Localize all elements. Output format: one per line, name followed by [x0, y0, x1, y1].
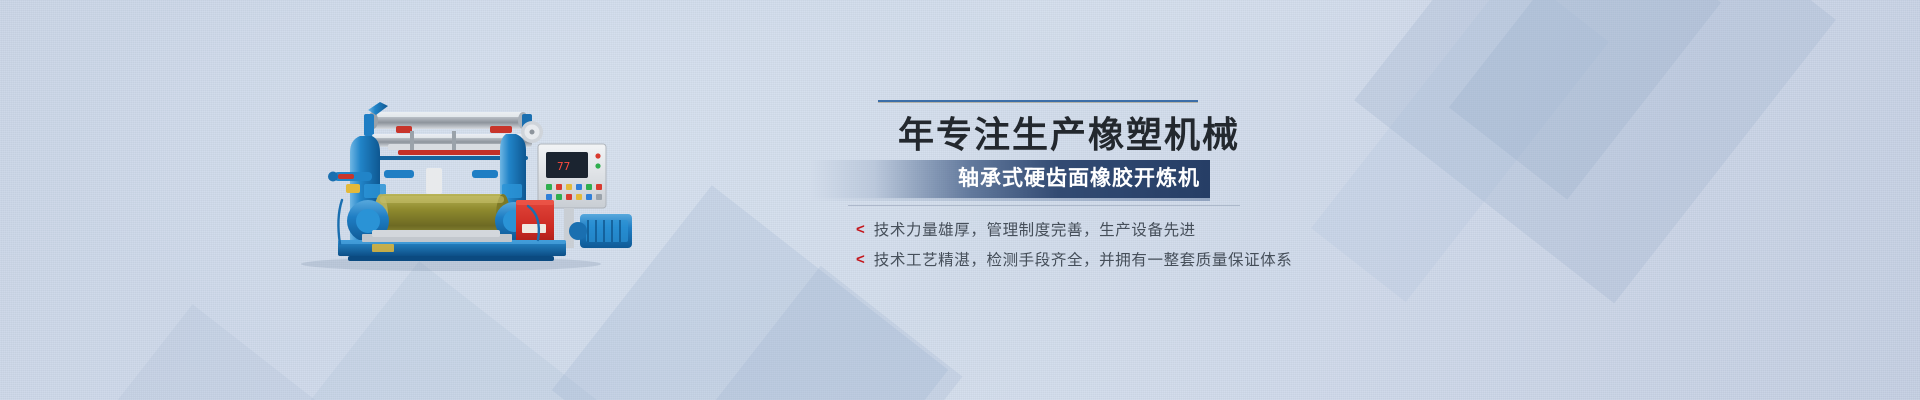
feature-bullet-2: < 技术工艺精湛，检测手段齐全，并拥有一整套质量保证体系 — [856, 246, 1292, 272]
feature-bullet-2-text: 技术工艺精湛，检测手段齐全，并拥有一整套质量保证体系 — [874, 248, 1293, 270]
svg-text:77: 77 — [557, 160, 570, 173]
motor — [569, 214, 632, 248]
chevron-left-icon: < — [856, 252, 865, 267]
decorative-panel-bottom-center-2 — [698, 266, 963, 400]
mid-divider-line — [848, 205, 1240, 206]
machine-photo: 77 — [276, 88, 636, 273]
banner-text-block: 年专注生产橡塑机械 轴承式硬齿面橡胶开炼机 < 技术力量雄厚，管理制度完善，生产… — [820, 86, 1580, 276]
feature-bullet-1: < 技术力量雄厚，管理制度完善，生产设备先进 — [856, 216, 1196, 242]
decorative-panel-bottom-left-1 — [296, 261, 624, 400]
flywheel — [521, 121, 543, 143]
page-title: 年专注生产橡塑机械 — [820, 112, 1240, 158]
product-subtitle: 轴承式硬齿面橡胶开炼机 — [810, 160, 1210, 198]
top-divider-shadow — [878, 102, 1198, 103]
promo-banner: 77 — [0, 0, 1920, 400]
chevron-left-icon: < — [856, 222, 865, 237]
drip-tray — [372, 230, 500, 237]
top-roller-assembly — [364, 102, 532, 136]
machine-illustration: 77 — [276, 88, 636, 273]
feature-bullet-1-text: 技术力量雄厚，管理制度完善，生产设备先进 — [874, 218, 1196, 240]
decorative-panel-bottom-left-2 — [94, 304, 366, 400]
